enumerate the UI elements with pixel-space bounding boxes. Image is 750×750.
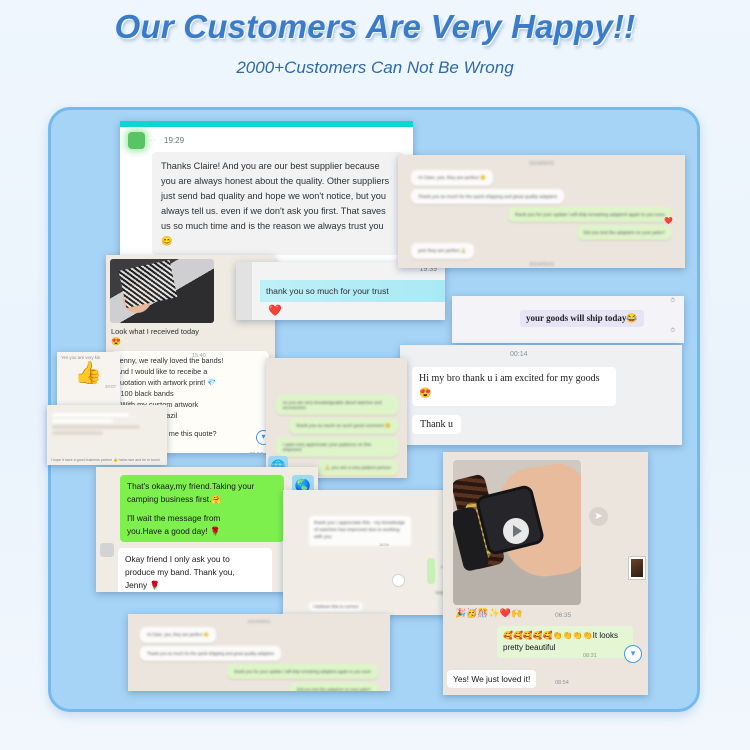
chevron-down-icon[interactable]: ▾ (624, 645, 642, 663)
camping-line: you.Have a good day! 🌹 (127, 525, 277, 538)
watch-video-card[interactable]: ➤ 🎉🥳🎊✨❤️🙌 06:35 🥰🥰🥰🥰🥰👏👏👏👏It looks pretty… (443, 452, 648, 695)
chat-line: Hi Clare, yes, they are perfect 🙂 (140, 627, 216, 643)
knowledge-time: 18:54 (379, 542, 389, 547)
sender-name-masked: ·· (150, 138, 158, 144)
blurry-chat-top-card[interactable]: 2024/05/02 Hi Clare, yes, they are perfe… (398, 155, 685, 268)
bands-photo-icon (110, 259, 214, 323)
produce-band-message: Okay friend I only ask you to produce my… (118, 548, 272, 592)
media-action-icon[interactable] (392, 574, 405, 587)
chat-line: thank you for your update i will ship re… (227, 664, 378, 679)
chat-date-stamp: 2024/05/02 (135, 619, 383, 624)
chat-date-stamp: 2024/05/03 (406, 262, 677, 268)
voice-message-bubble[interactable] (427, 558, 435, 584)
chat-line: yes! they are perfect 🙏 (411, 243, 474, 259)
photo-caption: Look what I received today (111, 327, 275, 336)
chat-line: Did you test the adapters on your palm? (577, 225, 672, 240)
photo-reaction[interactable]: 😍 (111, 337, 275, 346)
testimonial-banner: Our Customers Are Very Happy!! 2000+Cust… (0, 0, 750, 750)
trust-message: thank you so much for your trust (260, 280, 445, 302)
loved-it-time: 08:54 (555, 680, 569, 686)
heart-reaction-icon[interactable]: ❤️ (268, 304, 282, 317)
chat-side-strip (236, 262, 252, 320)
quote-line: · 100 black bands (116, 389, 263, 400)
excited-message: Hi my bro thank u i am excited for my go… (412, 367, 616, 406)
forward-icon[interactable]: ➤ (589, 507, 608, 526)
strip-caption: I hope it have a good business partner 👍… (51, 458, 160, 462)
thanks-message: Thank u (412, 415, 461, 434)
blurry-chat-bottom-card[interactable]: 2024/05/02 Hi Clare, yes, they are perfe… (128, 614, 390, 691)
left-strip-card[interactable]: I hope it have a good business partner 👍… (47, 405, 167, 465)
play-icon[interactable] (503, 518, 529, 544)
beautiful-time: 08:31 (583, 653, 597, 659)
knowledge-improved-card[interactable]: thank you I appreciate this - my knowled… (283, 490, 449, 615)
camping-line: I'll wait the message from (127, 512, 277, 525)
quote-line: quotation with artwork print! 💎 (116, 378, 263, 389)
chat-line: thank you for your update i will ship re… (508, 207, 672, 222)
watch-video-thumbnail[interactable] (453, 460, 581, 605)
quote-line: And I would like to receibe a (116, 367, 263, 378)
chat-time-stamp: 00:14 (510, 351, 528, 358)
page-title: Our Customers Are Very Happy!! (0, 8, 750, 46)
ship-time-bottom: ⏱ (670, 328, 675, 335)
contact-avatar-icon (100, 543, 114, 557)
ship-time-top: ⏱ (670, 298, 675, 305)
chat-header: ·· 19:29 (120, 127, 413, 150)
chat-line: no you are very knowledgeable about watc… (276, 395, 398, 415)
message-time: 19:29 (164, 136, 184, 145)
chat-line: i want very appreciate your patience on … (276, 437, 398, 457)
chat-date-stamp: 2024/05/02 (406, 161, 677, 167)
ship-message: your goods will ship today😂 (520, 310, 644, 327)
thumbs-up-card[interactable]: Yes you are very kin 👍 20:07 (57, 352, 120, 412)
trust-message-card[interactable]: 19:39 thank you so much for your trust ❤… (236, 262, 445, 320)
chat-line: 🙏 you are a very patient person (318, 460, 399, 476)
produce-line: Jenny 🌹 (125, 579, 265, 592)
heart-reaction-icon[interactable]: ❤️ (664, 217, 673, 225)
chat-line: Hi Clare, yes, they are perfect 🙂 (411, 170, 493, 186)
ship-today-card[interactable]: ⏱ your goods will ship today😂 ⏱ (452, 296, 684, 343)
quote-line: Jenny, we really loved the bands! (116, 356, 263, 367)
thumbnail-preview-icon[interactable] (628, 556, 646, 580)
chat-line: thank you so much on such good comment 😊 (289, 418, 398, 434)
excited-customer-card[interactable]: 00:14 Hi my bro thank u i am excited for… (400, 345, 682, 445)
video-reactions[interactable]: 🎉🥳🎊✨❤️🙌 (455, 608, 522, 619)
camping-green-message: That's okaay,my friend.Taking your campi… (120, 475, 284, 542)
whatsapp-avatar-icon (128, 132, 145, 149)
produce-line: Okay friend I only ask you to (125, 553, 265, 566)
photo-time: 15:40 (192, 353, 206, 359)
produce-line: produce my band. Thank you, (125, 566, 265, 579)
chat-line: Thank you so much for the quick shipping… (411, 189, 564, 204)
thumbs-up-icon: 👍 (57, 362, 120, 384)
camping-line: camping business first.🤗 (127, 493, 277, 506)
confirm-message: I believe this is correct (309, 602, 362, 611)
chat-line: Did you test the adapters on your palm? (290, 682, 378, 691)
beautiful-message: 🥰🥰🥰🥰🥰👏👏👏👏It looks pretty beautiful (497, 626, 633, 658)
video-time: 06:35 (555, 612, 571, 619)
chat-line: Thank you so much for the quick shipping… (140, 646, 281, 661)
knowledge-message: thank you I appreciate this - my knowled… (309, 516, 411, 546)
loved-it-message: Yes! We just loved it! (447, 670, 536, 688)
camping-line: That's okaay,my friend.Taking your (127, 480, 277, 493)
page-subtitle: 2000+Customers Can Not Be Wrong (0, 58, 750, 78)
watch-appreciation-card[interactable]: no you are very knowledgeable about watc… (266, 358, 407, 478)
testimonial-message: Thanks Claire! And you are our best supp… (152, 152, 403, 255)
